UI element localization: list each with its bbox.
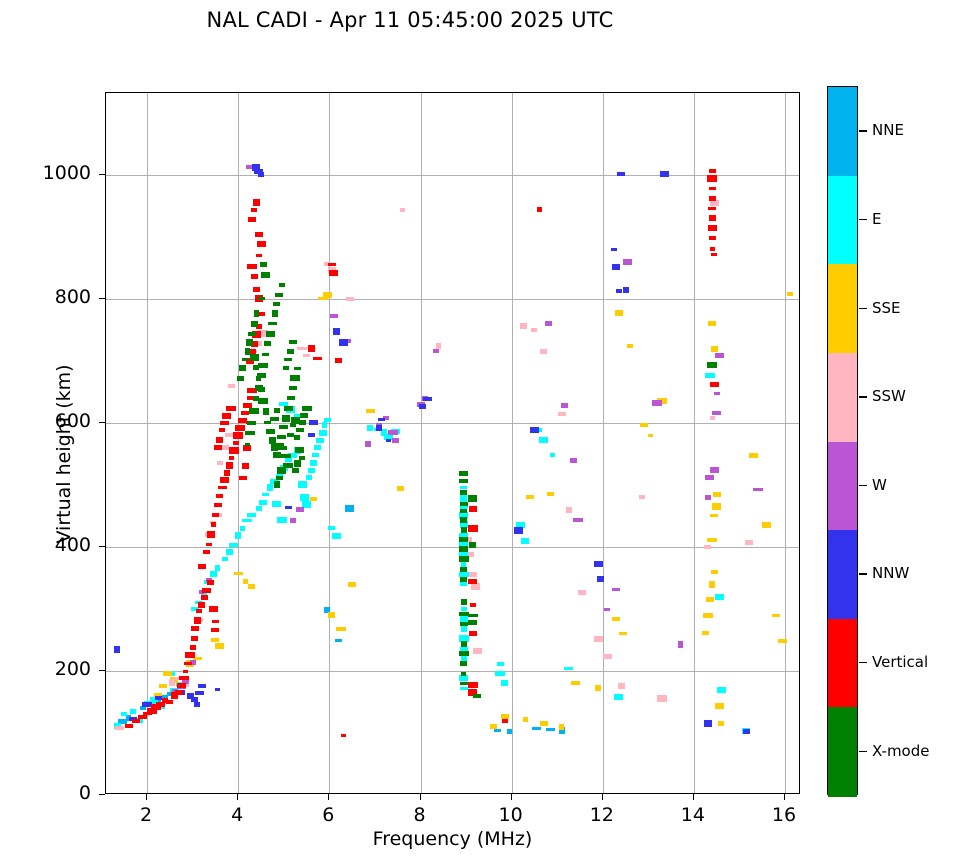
data-marker <box>660 171 669 177</box>
data-marker <box>618 683 625 689</box>
gridline-vertical <box>603 93 604 793</box>
data-marker <box>514 527 523 534</box>
data-marker <box>310 460 317 466</box>
data-marker <box>745 540 753 545</box>
data-marker <box>242 358 248 361</box>
data-marker <box>330 314 338 318</box>
data-marker <box>229 543 238 547</box>
data-marker <box>275 293 283 297</box>
data-marker <box>203 550 210 554</box>
data-marker <box>461 599 467 605</box>
data-marker <box>702 631 709 635</box>
data-marker <box>277 435 286 439</box>
data-marker <box>460 687 468 690</box>
gridline-vertical <box>512 93 513 793</box>
data-marker <box>378 418 385 421</box>
data-marker <box>248 332 256 336</box>
data-marker <box>308 468 315 473</box>
data-marker <box>540 721 548 726</box>
data-marker <box>787 292 793 296</box>
data-marker <box>290 423 296 427</box>
data-marker <box>501 680 508 686</box>
data-marker <box>211 638 219 642</box>
data-marker <box>206 543 212 546</box>
data-marker <box>256 254 262 257</box>
colorbar-segment-nnw[interactable] <box>828 530 857 619</box>
x-tick-label: 8 <box>390 804 450 826</box>
data-marker <box>619 632 627 635</box>
data-marker <box>262 353 269 356</box>
data-marker <box>710 382 719 387</box>
data-marker <box>179 676 189 680</box>
data-marker <box>198 684 206 688</box>
data-marker <box>537 207 542 212</box>
data-marker <box>289 386 297 390</box>
data-marker <box>114 646 120 653</box>
data-marker <box>211 628 219 632</box>
data-marker <box>253 365 259 370</box>
colorbar-segment-e[interactable] <box>828 176 857 265</box>
colorbar-tick <box>859 485 867 486</box>
data-marker <box>333 328 340 335</box>
data-marker <box>460 486 467 489</box>
gridline-horizontal <box>106 423 799 424</box>
data-marker <box>566 507 572 513</box>
data-marker <box>710 467 719 473</box>
data-marker <box>226 549 233 555</box>
data-marker <box>709 169 716 173</box>
data-marker <box>163 671 172 676</box>
colorbar-label-sse: SSE <box>872 299 901 317</box>
y-tick <box>99 298 105 299</box>
data-marker <box>639 495 645 499</box>
colorbar-tick <box>859 308 867 309</box>
colorbar-tick <box>859 396 867 397</box>
data-marker <box>185 652 195 658</box>
data-marker <box>194 702 200 707</box>
data-marker <box>219 428 225 432</box>
data-marker <box>262 493 269 496</box>
data-marker <box>132 719 140 723</box>
data-marker <box>214 503 222 507</box>
data-marker <box>261 272 270 278</box>
x-tick-label: 16 <box>754 804 814 826</box>
data-marker <box>302 406 312 411</box>
data-marker <box>308 345 315 352</box>
data-marker <box>310 497 317 501</box>
data-marker <box>228 384 235 388</box>
data-marker <box>570 458 577 463</box>
data-marker <box>558 412 566 416</box>
data-marker <box>627 344 633 348</box>
data-marker <box>461 625 467 632</box>
y-tick <box>99 422 105 423</box>
data-marker <box>743 729 750 734</box>
data-marker <box>753 488 763 491</box>
data-marker <box>521 538 529 544</box>
data-marker <box>125 724 133 728</box>
data-marker <box>772 614 780 617</box>
data-marker <box>749 453 758 458</box>
data-marker <box>459 533 468 537</box>
data-marker <box>215 565 220 571</box>
x-tick <box>693 794 694 800</box>
data-marker <box>210 571 217 577</box>
data-marker <box>294 460 301 467</box>
data-marker <box>306 475 312 480</box>
data-marker <box>709 236 716 240</box>
data-marker <box>715 353 724 358</box>
data-marker <box>287 349 294 354</box>
data-marker <box>264 421 271 424</box>
data-marker <box>214 445 222 450</box>
data-marker <box>614 694 623 700</box>
data-marker <box>392 438 399 443</box>
data-marker <box>704 720 712 727</box>
data-marker <box>715 594 724 600</box>
data-marker <box>319 430 327 436</box>
data-marker <box>258 297 265 300</box>
data-marker <box>191 626 199 631</box>
colorbar-label-vertical: Vertical <box>872 653 928 671</box>
data-marker <box>345 505 354 512</box>
data-marker <box>277 467 286 474</box>
data-marker <box>705 495 711 500</box>
data-marker <box>332 533 341 539</box>
colorbar-label-w: W <box>872 476 887 494</box>
data-marker <box>470 603 476 607</box>
data-marker <box>309 420 318 425</box>
data-marker <box>190 645 196 650</box>
data-marker <box>245 348 250 355</box>
data-marker <box>461 527 467 533</box>
data-marker <box>461 672 466 676</box>
data-marker <box>623 287 629 293</box>
data-marker <box>604 608 610 611</box>
data-marker <box>215 643 224 649</box>
data-marker <box>714 392 720 395</box>
gridline-horizontal <box>106 299 799 300</box>
data-marker <box>711 570 718 574</box>
data-marker <box>222 557 228 561</box>
data-marker <box>233 441 239 445</box>
x-axis-title: Frequency (MHz) <box>105 828 800 850</box>
data-marker <box>460 647 468 651</box>
data-marker <box>532 727 541 730</box>
x-tick <box>420 794 421 800</box>
data-marker <box>184 662 192 665</box>
x-tick-label: 6 <box>298 804 358 826</box>
data-marker <box>314 445 321 450</box>
data-marker <box>316 438 324 443</box>
x-tick <box>237 794 238 800</box>
gridline-horizontal <box>106 671 799 672</box>
data-marker <box>597 576 604 582</box>
data-marker <box>366 409 375 413</box>
data-marker <box>254 310 259 317</box>
gridline-vertical <box>329 93 330 793</box>
data-marker <box>460 582 467 586</box>
data-marker <box>703 613 713 618</box>
data-marker <box>285 506 292 509</box>
data-marker <box>709 581 715 588</box>
colorbar-label-nnw: NNW <box>872 564 909 582</box>
data-marker <box>707 538 717 542</box>
data-marker <box>155 696 162 700</box>
data-marker <box>226 462 233 469</box>
data-marker <box>258 172 264 177</box>
y-tick <box>99 794 105 795</box>
data-marker <box>460 661 467 666</box>
data-marker <box>216 494 223 498</box>
figure: NAL CADI - Apr 11 05:45:00 2025 UTC Freq… <box>0 0 972 865</box>
data-marker <box>461 641 467 647</box>
data-marker <box>322 422 327 428</box>
data-marker <box>243 445 251 451</box>
data-marker <box>248 584 255 589</box>
data-marker <box>253 199 260 206</box>
colorbar-segment-x-mode[interactable] <box>828 707 857 796</box>
data-marker <box>175 690 183 695</box>
data-marker <box>615 310 623 316</box>
data-marker <box>239 476 247 480</box>
data-marker <box>298 481 307 488</box>
data-marker <box>468 620 477 625</box>
data-marker <box>282 415 290 422</box>
data-marker <box>274 408 280 413</box>
data-marker <box>202 588 211 593</box>
data-marker <box>308 433 315 437</box>
data-marker <box>217 461 223 465</box>
data-marker <box>461 607 467 611</box>
colorbar-segment-ssw[interactable] <box>828 353 857 442</box>
data-marker <box>115 726 124 730</box>
data-marker <box>704 545 711 549</box>
data-marker <box>460 490 467 495</box>
data-marker <box>335 358 342 363</box>
data-marker <box>710 200 719 206</box>
y-tick-label: 1000 <box>21 162 91 184</box>
data-marker <box>473 694 481 698</box>
colorbar-label-x-mode: X-mode <box>872 742 929 760</box>
x-tick-label: 12 <box>572 804 632 826</box>
data-marker <box>460 502 468 506</box>
data-marker <box>523 717 528 722</box>
data-marker <box>256 376 261 381</box>
data-marker <box>559 724 564 730</box>
data-marker <box>226 406 236 411</box>
data-marker <box>386 439 391 442</box>
data-marker <box>708 225 717 231</box>
data-marker <box>264 341 271 346</box>
data-marker <box>234 572 243 575</box>
x-tick-label: 14 <box>663 804 723 826</box>
data-marker <box>240 526 245 531</box>
data-marker <box>712 411 721 415</box>
data-marker <box>573 518 583 522</box>
data-marker <box>276 476 283 480</box>
data-marker <box>251 208 257 212</box>
data-marker <box>648 434 653 437</box>
data-marker <box>297 347 307 350</box>
data-marker <box>212 513 219 517</box>
data-marker <box>267 484 273 491</box>
data-marker <box>207 580 214 585</box>
data-marker <box>709 196 716 201</box>
data-marker <box>520 323 527 329</box>
data-marker <box>423 397 432 401</box>
data-marker <box>530 427 539 433</box>
data-marker <box>243 579 248 584</box>
plot-area[interactable] <box>105 92 800 794</box>
data-marker <box>611 248 617 251</box>
data-marker <box>459 471 468 476</box>
data-marker <box>225 433 234 437</box>
y-axis-title: Virtual height (km) <box>53 294 75 614</box>
data-marker <box>247 264 257 269</box>
gridline-horizontal <box>106 175 799 176</box>
data-marker <box>545 321 552 326</box>
data-marker <box>290 518 296 523</box>
data-marker <box>196 609 202 613</box>
data-marker <box>258 363 268 368</box>
data-marker <box>494 729 501 732</box>
data-marker <box>705 475 714 480</box>
y-tick-label: 400 <box>21 534 91 556</box>
data-marker <box>507 729 512 734</box>
data-marker <box>191 636 198 641</box>
data-marker <box>303 354 310 357</box>
data-marker <box>283 366 289 370</box>
x-tick-label: 10 <box>481 804 541 826</box>
data-marker <box>400 208 405 212</box>
data-marker <box>710 514 718 517</box>
data-marker <box>468 495 477 502</box>
data-marker <box>279 283 285 287</box>
data-marker <box>220 477 229 483</box>
y-tick-label: 200 <box>21 658 91 680</box>
data-marker <box>460 509 467 513</box>
colorbar-tick <box>859 662 867 663</box>
data-marker <box>367 425 373 431</box>
y-tick <box>99 546 105 547</box>
data-marker <box>339 339 348 346</box>
colorbar-label-nne: NNE <box>872 121 904 139</box>
data-canvas <box>106 93 799 793</box>
x-tick <box>511 794 512 800</box>
data-marker <box>711 253 717 256</box>
data-marker <box>256 506 262 511</box>
data-marker <box>212 620 219 623</box>
data-marker <box>460 567 467 572</box>
data-marker <box>300 413 308 418</box>
data-marker <box>460 682 468 685</box>
data-marker <box>274 481 280 488</box>
data-marker <box>287 396 295 400</box>
data-marker <box>495 671 505 676</box>
data-marker <box>250 354 259 361</box>
data-marker <box>294 435 300 440</box>
colorbar-label-ssw: SSW <box>872 387 906 405</box>
data-marker <box>266 429 275 434</box>
data-marker <box>712 503 721 510</box>
colorbar-segment-vertical[interactable] <box>828 619 857 708</box>
data-marker <box>258 398 268 404</box>
data-marker <box>235 532 241 539</box>
x-tick <box>602 794 603 800</box>
data-marker <box>709 187 716 190</box>
colorbar[interactable] <box>827 86 858 795</box>
data-marker <box>705 373 715 378</box>
x-tick <box>328 794 329 800</box>
data-marker <box>550 453 555 457</box>
colorbar-segment-sse[interactable] <box>828 264 857 353</box>
gridline-vertical <box>421 93 422 793</box>
data-marker <box>215 688 220 691</box>
data-marker <box>255 232 263 237</box>
data-marker <box>260 262 267 267</box>
data-marker <box>595 685 601 691</box>
page-title: NAL CADI - Apr 11 05:45:00 2025 UTC <box>0 8 820 32</box>
data-marker <box>459 556 469 562</box>
data-marker <box>251 321 258 327</box>
data-marker <box>246 339 253 346</box>
data-marker <box>612 588 620 591</box>
data-marker <box>762 522 771 528</box>
data-marker <box>198 602 205 608</box>
data-marker <box>547 492 554 496</box>
data-marker <box>251 274 258 279</box>
data-marker <box>468 682 478 688</box>
data-marker <box>612 264 620 270</box>
data-marker <box>257 241 266 247</box>
data-marker <box>603 654 612 659</box>
data-marker <box>273 302 280 306</box>
data-marker <box>460 577 467 582</box>
data-marker <box>710 416 715 420</box>
data-marker <box>419 404 426 409</box>
colorbar-segment-nne[interactable] <box>828 87 857 176</box>
data-marker <box>502 719 508 723</box>
data-marker <box>459 479 468 483</box>
data-marker <box>546 728 555 731</box>
data-marker <box>539 437 548 443</box>
data-marker <box>571 681 580 685</box>
data-marker <box>708 321 716 326</box>
data-marker <box>245 443 250 446</box>
data-marker <box>294 367 301 370</box>
data-marker <box>245 431 255 435</box>
gridline-horizontal <box>106 547 799 548</box>
data-marker <box>473 648 482 654</box>
y-tick-label: 0 <box>21 782 91 804</box>
colorbar-segment-w[interactable] <box>828 442 857 531</box>
data-marker <box>296 428 304 432</box>
data-marker <box>272 310 278 317</box>
data-marker <box>209 606 218 612</box>
data-marker <box>207 531 215 538</box>
data-marker <box>268 322 277 325</box>
data-marker <box>652 400 662 406</box>
data-marker <box>211 522 216 527</box>
data-marker <box>241 411 249 415</box>
data-marker <box>710 247 715 251</box>
data-marker <box>594 636 603 642</box>
data-marker <box>273 452 281 458</box>
data-marker <box>715 703 724 709</box>
data-marker <box>365 441 371 447</box>
y-tick-label: 800 <box>21 286 91 308</box>
